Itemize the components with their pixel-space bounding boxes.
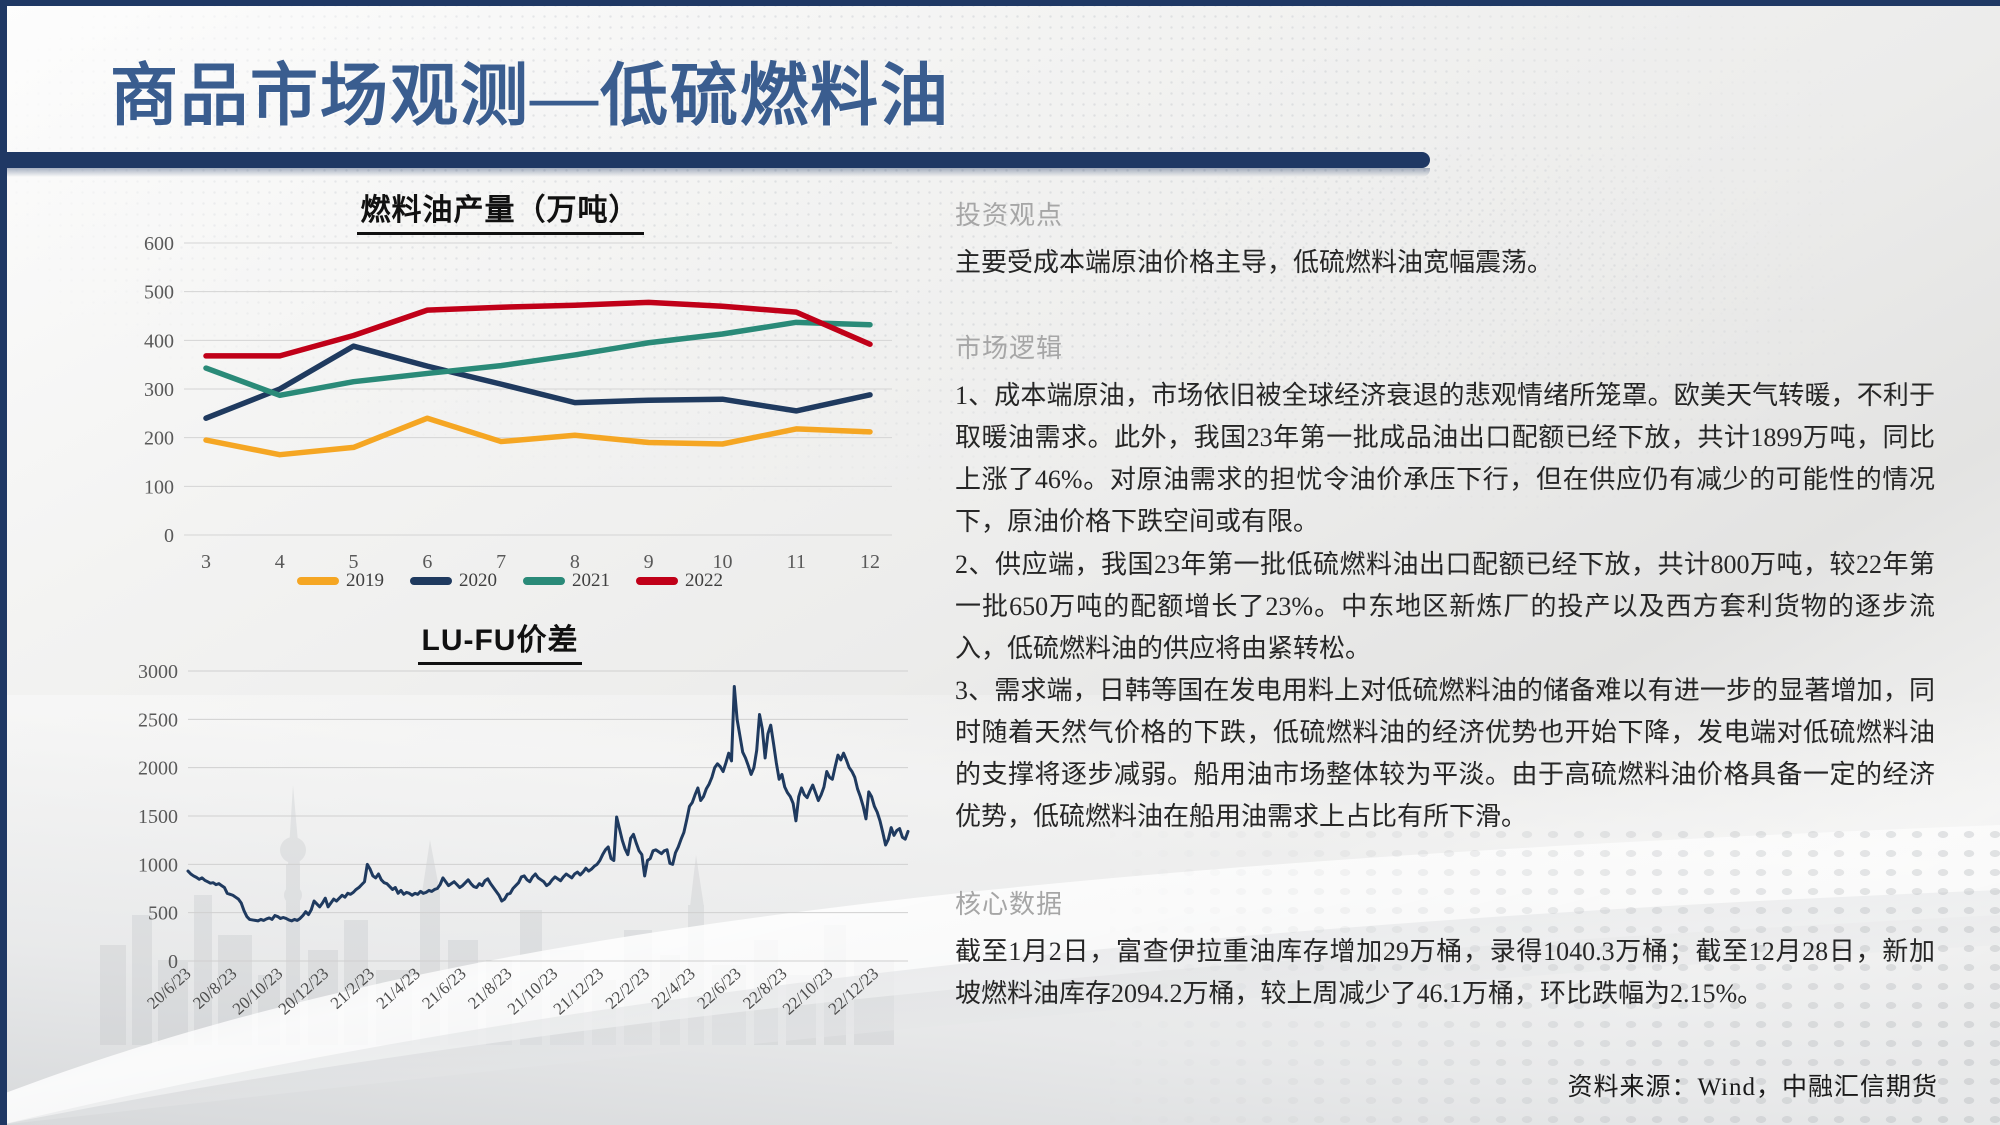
svg-text:600: 600 (144, 233, 174, 255)
source-footnote: 资料来源：Wind，中融汇信期货 (1567, 1067, 1938, 1103)
svg-text:200: 200 (144, 428, 174, 450)
svg-text:1000: 1000 (138, 854, 178, 876)
page-title: 商品市场观测—低硫燃料油 (110, 40, 950, 139)
production-chart-legend: 2019202020212022 (250, 570, 770, 592)
header-accent-bar-shadow (0, 168, 1430, 177)
header-accent-bar (0, 152, 1430, 168)
left-edge-rule (0, 0, 7, 1125)
market-logic-para-1: 1、成本端原油，市场依旧被全球经济衰退的悲观情绪所笼罩。欧美天气转暖，不利于取暖… (955, 375, 1935, 543)
svg-text:21/6/23: 21/6/23 (418, 964, 469, 1013)
investment-view-body: 主要受成本端原油价格主导，低硫燃料油宽幅震荡。 (955, 242, 1935, 284)
svg-text:11: 11 (787, 551, 806, 573)
svg-text:22/6/23: 22/6/23 (693, 964, 744, 1013)
svg-text:2000: 2000 (138, 758, 178, 780)
header-top-rule (0, 0, 2000, 6)
production-chart: 燃料油产量（万吨） 010020030040050060034567891011… (60, 185, 940, 605)
svg-text:22/2/23: 22/2/23 (602, 964, 653, 1013)
spread-chart: LU-FU价差 05001000150020002500300020/6/232… (60, 615, 940, 1085)
svg-text:500: 500 (144, 282, 174, 304)
market-logic-para-2: 2、供应端，我国23年第一批低硫燃料油出口配额已经下放，共计800万吨，较22年… (955, 544, 1935, 670)
svg-text:500: 500 (148, 903, 178, 925)
core-data-heading: 核心数据 (955, 884, 1935, 921)
svg-text:21/12/23: 21/12/23 (550, 964, 608, 1019)
legend-item-2022[interactable]: 2022 (636, 570, 723, 592)
svg-text:3000: 3000 (138, 663, 178, 683)
production-chart-plot: 01002003004005006003456789101112 (120, 233, 910, 583)
svg-text:2500: 2500 (138, 709, 178, 731)
commentary-panel: 投资观点 主要受成本端原油价格主导，低硫燃料油宽幅震荡。 市场逻辑 1、成本端原… (955, 195, 1935, 1016)
market-logic-heading: 市场逻辑 (955, 328, 1935, 365)
spread-chart-title-text: LU-FU价差 (418, 615, 583, 665)
svg-text:1500: 1500 (138, 806, 178, 828)
investment-view-heading: 投资观点 (955, 195, 1935, 232)
market-logic-section: 市场逻辑 1、成本端原油，市场依旧被全球经济衰退的悲观情绪所笼罩。欧美天气转暖，… (955, 328, 1935, 838)
legend-label-2022: 2022 (685, 570, 723, 592)
core-data-section: 核心数据 截至1月2日，富查伊拉重油库存增加29万桶，录得1040.3万桶；截至… (955, 884, 1935, 1015)
charts-panel: 燃料油产量（万吨） 010020030040050060034567891011… (60, 185, 940, 1085)
svg-text:100: 100 (144, 476, 174, 498)
investment-view-section: 投资观点 主要受成本端原油价格主导，低硫燃料油宽幅震荡。 (955, 195, 1935, 284)
legend-swatch-2021 (523, 577, 565, 585)
legend-item-2019[interactable]: 2019 (297, 570, 384, 592)
production-chart-title-text: 燃料油产量（万吨） (357, 185, 644, 235)
svg-text:12: 12 (860, 551, 880, 573)
legend-swatch-2020 (410, 577, 452, 585)
svg-text:21/10/23: 21/10/23 (504, 964, 562, 1019)
svg-text:3: 3 (201, 551, 211, 573)
svg-text:20/10/23: 20/10/23 (229, 964, 287, 1019)
market-logic-para-3: 3、需求端，日韩等国在发电用料上对低硫燃料油的储备难以有进一步的显著增加，同时随… (955, 670, 1935, 838)
legend-label-2020: 2020 (459, 570, 497, 592)
svg-text:21/4/23: 21/4/23 (373, 964, 424, 1013)
legend-label-2021: 2021 (572, 570, 610, 592)
svg-text:22/4/23: 22/4/23 (648, 964, 699, 1013)
legend-item-2020[interactable]: 2020 (410, 570, 497, 592)
svg-text:0: 0 (164, 525, 174, 547)
svg-text:400: 400 (144, 330, 174, 352)
spread-chart-plot: 05001000150020002500300020/6/2320/8/2320… (110, 663, 920, 1073)
production-chart-title: 燃料油产量（万吨） (220, 185, 780, 235)
svg-text:22/10/23: 22/10/23 (779, 964, 837, 1019)
spread-chart-title: LU-FU价差 (240, 615, 760, 665)
svg-text:21/2/23: 21/2/23 (327, 964, 378, 1013)
svg-text:20/12/23: 20/12/23 (275, 964, 333, 1019)
legend-item-2021[interactable]: 2021 (523, 570, 610, 592)
legend-label-2019: 2019 (346, 570, 384, 592)
legend-swatch-2019 (297, 577, 339, 585)
svg-text:300: 300 (144, 379, 174, 401)
legend-swatch-2022 (636, 577, 678, 585)
svg-text:22/12/23: 22/12/23 (825, 964, 883, 1019)
core-data-body: 截至1月2日，富查伊拉重油库存增加29万桶，录得1040.3万桶；截至12月28… (955, 931, 1935, 1015)
